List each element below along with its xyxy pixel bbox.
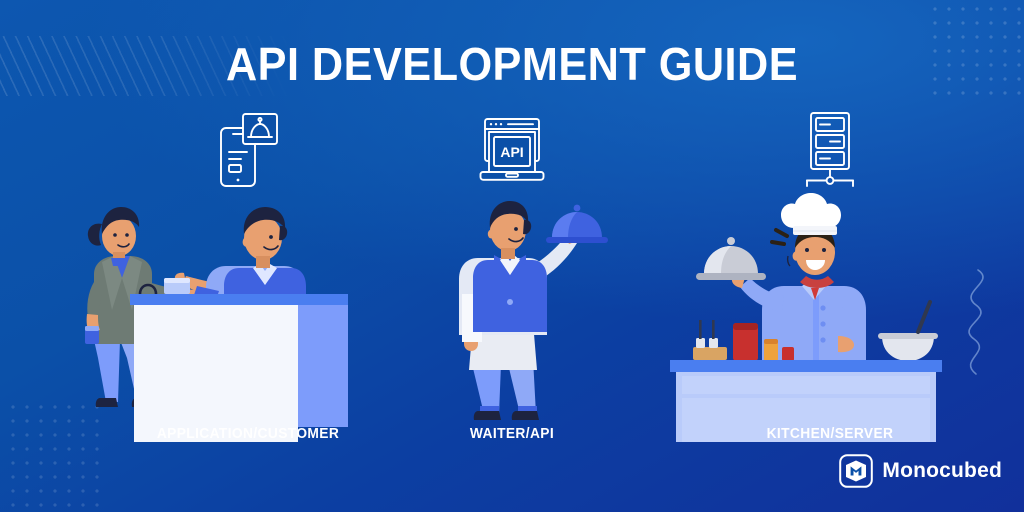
silver-dish-cover — [696, 237, 766, 280]
page-title: API DEVELOPMENT GUIDE — [31, 38, 994, 90]
scene-application-customer — [58, 190, 438, 442]
api-icon-label: API — [500, 144, 523, 160]
chef-hat — [781, 193, 841, 235]
dish-cover — [546, 205, 608, 243]
monocubed-logo-text: Monocubed — [882, 459, 1002, 483]
caption-waiter-api: WAITER/API — [406, 426, 619, 442]
caption-application-customer: APPLICATION/CUSTOMER — [68, 426, 429, 442]
scene-waiter-api — [400, 190, 624, 442]
column-application-customer: APPLICATION/CUSTOMER — [58, 108, 438, 468]
chef-in-kitchen-illustration — [660, 190, 1000, 442]
chef-figure — [696, 193, 866, 362]
caption-kitchen-server: KITCHEN/SERVER — [669, 426, 992, 442]
icon-mobile-phone-with-dish-cover — [58, 108, 438, 194]
server-rack-network-icon — [799, 111, 861, 191]
monocubed-m-badge-icon — [839, 454, 873, 488]
column-waiter-api: API — [400, 108, 624, 468]
mobile-phone-with-dish-cover-icon — [215, 112, 281, 190]
icon-server-rack-network — [660, 108, 1000, 194]
customer-at-counter-illustration — [58, 190, 438, 442]
scene-kitchen-server — [660, 190, 1000, 442]
laptop-browser-api-icon: API — [475, 116, 549, 186]
infographic-canvas: API DEVELOPMENT GUIDE — [0, 0, 1024, 512]
service-counter — [130, 278, 348, 442]
monocubed-logo[interactable]: Monocubed — [839, 454, 1002, 488]
icon-laptop-browser-api: API — [400, 108, 624, 194]
waiter-holding-cloche-illustration — [400, 190, 624, 442]
waiter-figure — [459, 201, 608, 420]
column-kitchen-server: KITCHEN/SERVER — [660, 108, 1000, 468]
